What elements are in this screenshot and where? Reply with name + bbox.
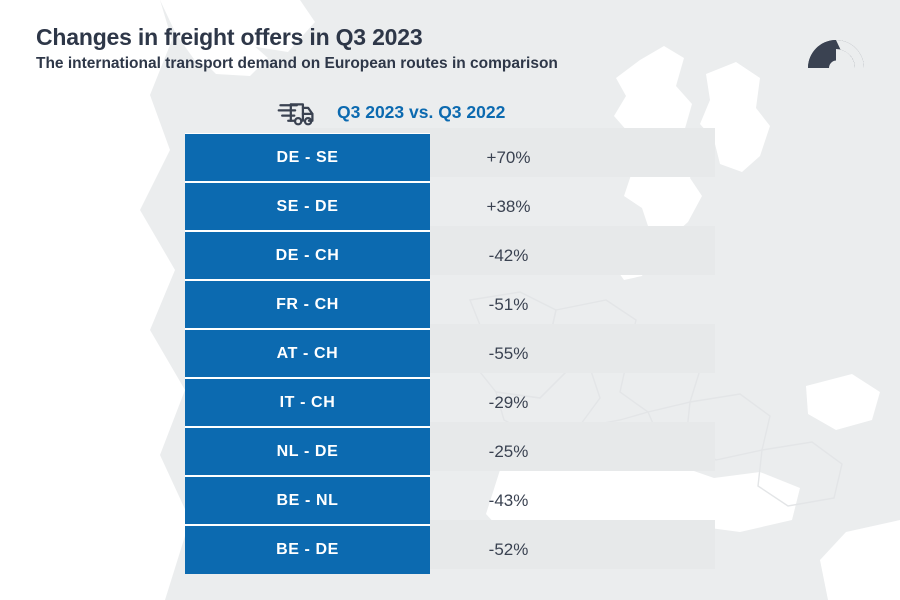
table-row[interactable]: AT - CH -55% bbox=[185, 329, 715, 378]
freight-comparison-table: Q3 2023 vs. Q3 2022 DE - SE +70% SE - DE… bbox=[185, 92, 715, 574]
route-label: BE - NL bbox=[185, 476, 430, 525]
route-label: BE - DE bbox=[185, 525, 430, 574]
change-value: -25% bbox=[430, 427, 715, 476]
column-header-label: Q3 2023 vs. Q3 2022 bbox=[337, 102, 505, 123]
route-label: IT - CH bbox=[185, 378, 430, 427]
delivery-truck-icon bbox=[277, 99, 315, 127]
table-row[interactable]: SE - DE +38% bbox=[185, 182, 715, 231]
change-value: +70% bbox=[430, 133, 715, 182]
page-subtitle: The international transport demand on Eu… bbox=[36, 55, 558, 73]
route-label: NL - DE bbox=[185, 427, 430, 476]
header: Changes in freight offers in Q3 2023 The… bbox=[36, 24, 558, 73]
table-row[interactable]: NL - DE -25% bbox=[185, 427, 715, 476]
change-value: -29% bbox=[430, 378, 715, 427]
route-label: AT - CH bbox=[185, 329, 430, 378]
change-value: -43% bbox=[430, 476, 715, 525]
table-header-row: Q3 2023 vs. Q3 2022 bbox=[185, 92, 715, 133]
route-label: SE - DE bbox=[185, 182, 430, 231]
change-value: -52% bbox=[430, 525, 715, 574]
table-row[interactable]: FR - CH -51% bbox=[185, 280, 715, 329]
change-value: -51% bbox=[430, 280, 715, 329]
change-value: -55% bbox=[430, 329, 715, 378]
change-value: -42% bbox=[430, 231, 715, 280]
table-row[interactable]: DE - CH -42% bbox=[185, 231, 715, 280]
dome-logo-icon bbox=[807, 28, 865, 72]
table-row[interactable]: BE - DE -52% bbox=[185, 525, 715, 574]
table-row[interactable]: DE - SE +70% bbox=[185, 133, 715, 182]
route-label: DE - CH bbox=[185, 231, 430, 280]
change-value: +38% bbox=[430, 182, 715, 231]
route-label: DE - SE bbox=[185, 133, 430, 182]
table-row[interactable]: BE - NL -43% bbox=[185, 476, 715, 525]
table-row[interactable]: IT - CH -29% bbox=[185, 378, 715, 427]
route-label: FR - CH bbox=[185, 280, 430, 329]
page-title: Changes in freight offers in Q3 2023 bbox=[36, 24, 558, 51]
